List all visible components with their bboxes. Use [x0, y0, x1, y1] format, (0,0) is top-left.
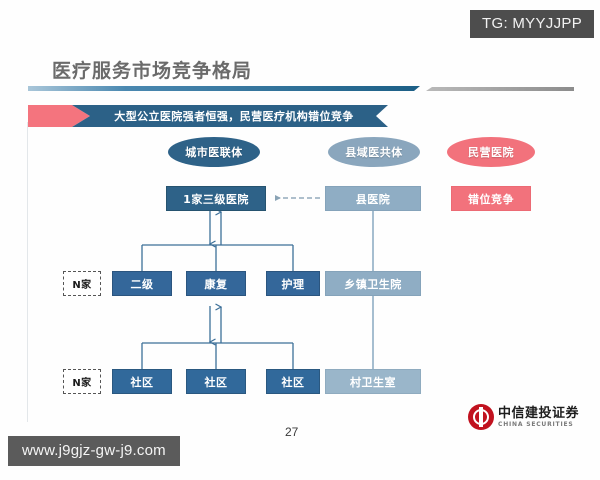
company-logo: 中信建投证券 CHINA SECURITIES — [468, 404, 579, 430]
node-city-medical-alliance[interactable]: 城市医联体 — [168, 137, 260, 167]
node-village-clinic[interactable]: 村卫生室 — [325, 369, 421, 394]
node-private-hospital[interactable]: 民营医院 — [447, 137, 535, 167]
logo-text-block: 中信建投证券 CHINA SECURITIES — [498, 407, 579, 428]
node-secondary-hospital[interactable]: 二级 — [112, 271, 172, 296]
url-watermark-badge: www.j9gjz-gw-j9.com — [8, 436, 180, 466]
section-banner: 大型公立医院强者恒强，民营医疗机构错位竞争 — [28, 105, 388, 127]
node-community-1[interactable]: 社区 — [112, 369, 172, 394]
node-tertiary-hospital[interactable]: 1家三级医院 — [166, 186, 266, 211]
page-title: 医疗服务市场竞争格局 — [52, 56, 252, 83]
china-securities-emblem-icon — [468, 404, 494, 430]
node-community-3[interactable]: 社区 — [266, 369, 320, 394]
node-county-hospital[interactable]: 县医院 — [325, 186, 421, 211]
node-county-medical-community[interactable]: 县域医共体 — [328, 137, 420, 167]
label-n-count-row4: N家 — [63, 369, 101, 394]
node-community-2[interactable]: 社区 — [186, 369, 246, 394]
logo-name-cn: 中信建投证券 — [498, 407, 579, 420]
page-number: 27 — [285, 425, 298, 439]
left-accent-hairline — [27, 122, 28, 422]
logo-name-en: CHINA SECURITIES — [498, 422, 579, 428]
label-n-count-row3: N家 — [63, 271, 101, 296]
title-underline-rule — [28, 85, 574, 91]
slide-canvas: TG: MYYJJPP 医疗服务市场竞争格局 大型公立医院强者恒强，民营医疗机构… — [0, 0, 600, 480]
tg-watermark-badge: TG: MYYJJPP — [470, 10, 594, 38]
node-township-health-center[interactable]: 乡镇卫生院 — [325, 271, 421, 296]
node-rehabilitation[interactable]: 康复 — [186, 271, 246, 296]
node-misaligned-competition[interactable]: 错位竞争 — [451, 186, 531, 211]
node-nursing[interactable]: 护理 — [266, 271, 320, 296]
banner-label: 大型公立医院强者恒强，民营医疗机构错位竞争 — [90, 105, 378, 127]
